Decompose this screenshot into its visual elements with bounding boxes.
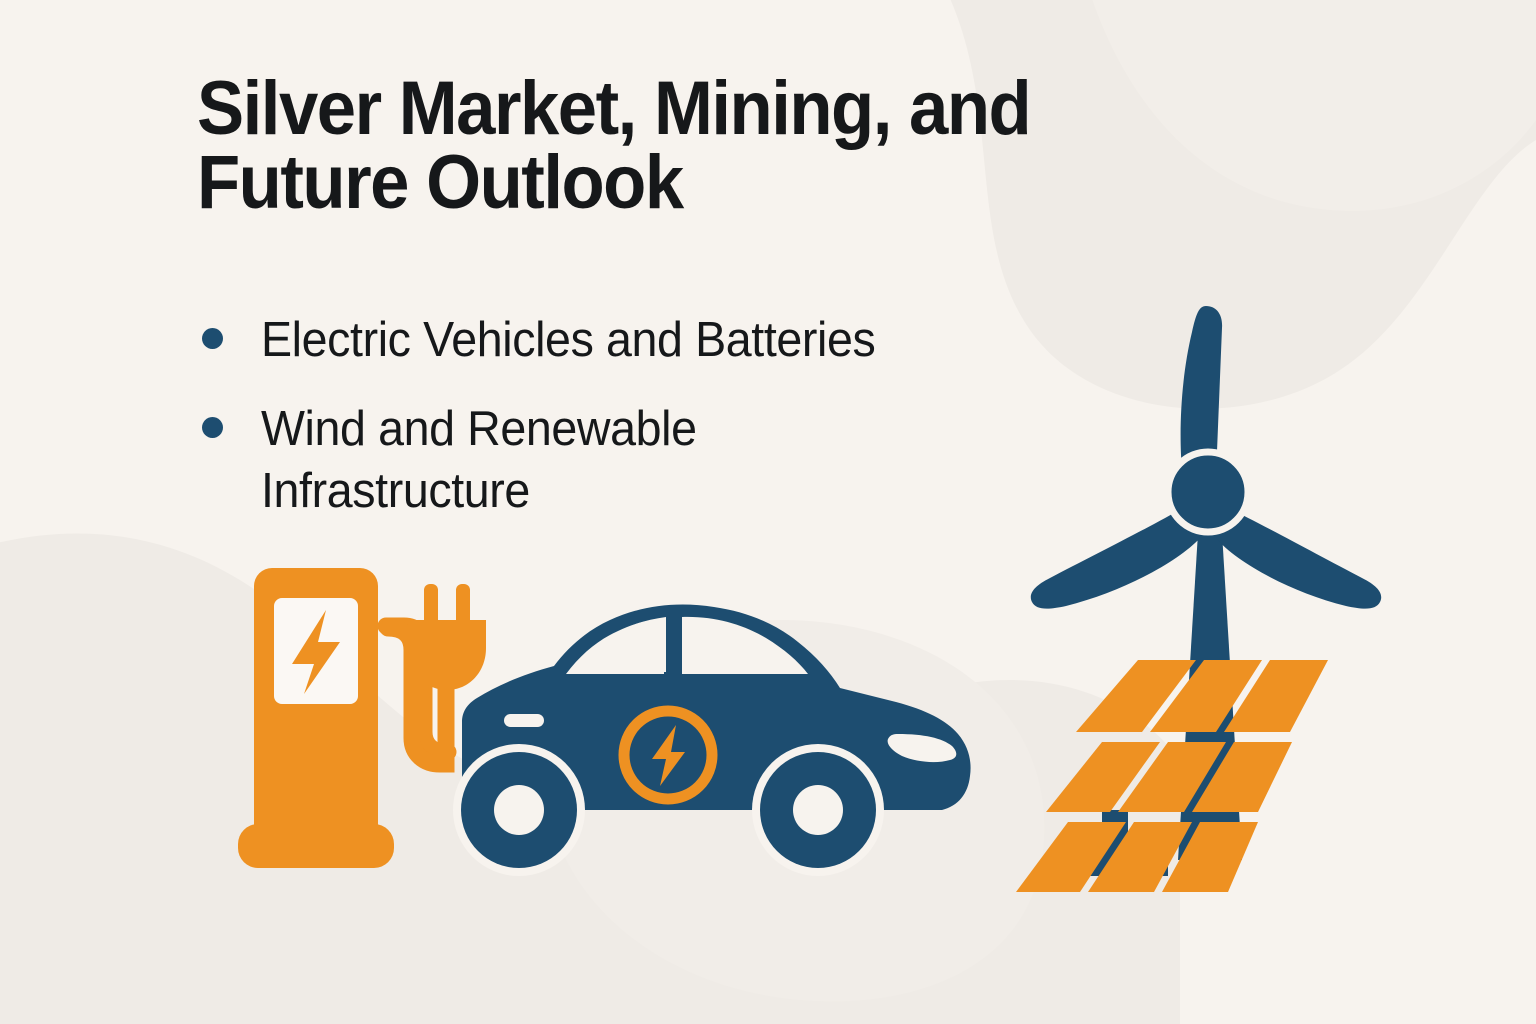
page-title: Silver Market, Mining, and Future Outloo… xyxy=(197,72,1127,219)
infographic-canvas: Silver Market, Mining, and Future Outloo… xyxy=(0,0,1536,1024)
charging-cable-icon xyxy=(386,626,448,752)
car-wheel-icon xyxy=(453,744,585,876)
car-wheel-icon xyxy=(752,744,884,876)
lightning-bolt-icon xyxy=(292,610,340,694)
bullet-list: Electric Vehicles and Batteries Wind and… xyxy=(202,309,1142,549)
charging-cable-icon-run xyxy=(388,628,446,764)
list-item: Wind and Renewable Infrastructure xyxy=(202,398,1142,523)
bullet-label: Wind and Renewable Infrastructure xyxy=(261,398,697,523)
bullet-label: Electric Vehicles and Batteries xyxy=(261,309,875,372)
solar-panel-stand-icon xyxy=(1062,810,1168,876)
charging-station-icon xyxy=(238,568,394,868)
background-blob-bottom-left xyxy=(0,534,1180,1024)
turbine-hub-icon xyxy=(1168,452,1248,532)
ev-charging-scene xyxy=(236,562,996,892)
background-blob-midground xyxy=(548,620,1044,1001)
turbine-mast-icon xyxy=(1178,500,1242,860)
text-block: Silver Market, Mining, and Future Outloo… xyxy=(197,72,1197,219)
charging-plug-icon xyxy=(408,584,486,720)
bullet-dot-icon xyxy=(202,328,223,349)
solar-panel-icon xyxy=(1016,660,1328,892)
charging-station-screen-icon xyxy=(274,598,358,704)
electric-car-icon xyxy=(453,605,971,876)
list-item: Electric Vehicles and Batteries xyxy=(202,309,1142,372)
bullet-dot-icon xyxy=(202,417,223,438)
car-charge-badge-icon xyxy=(624,711,712,799)
